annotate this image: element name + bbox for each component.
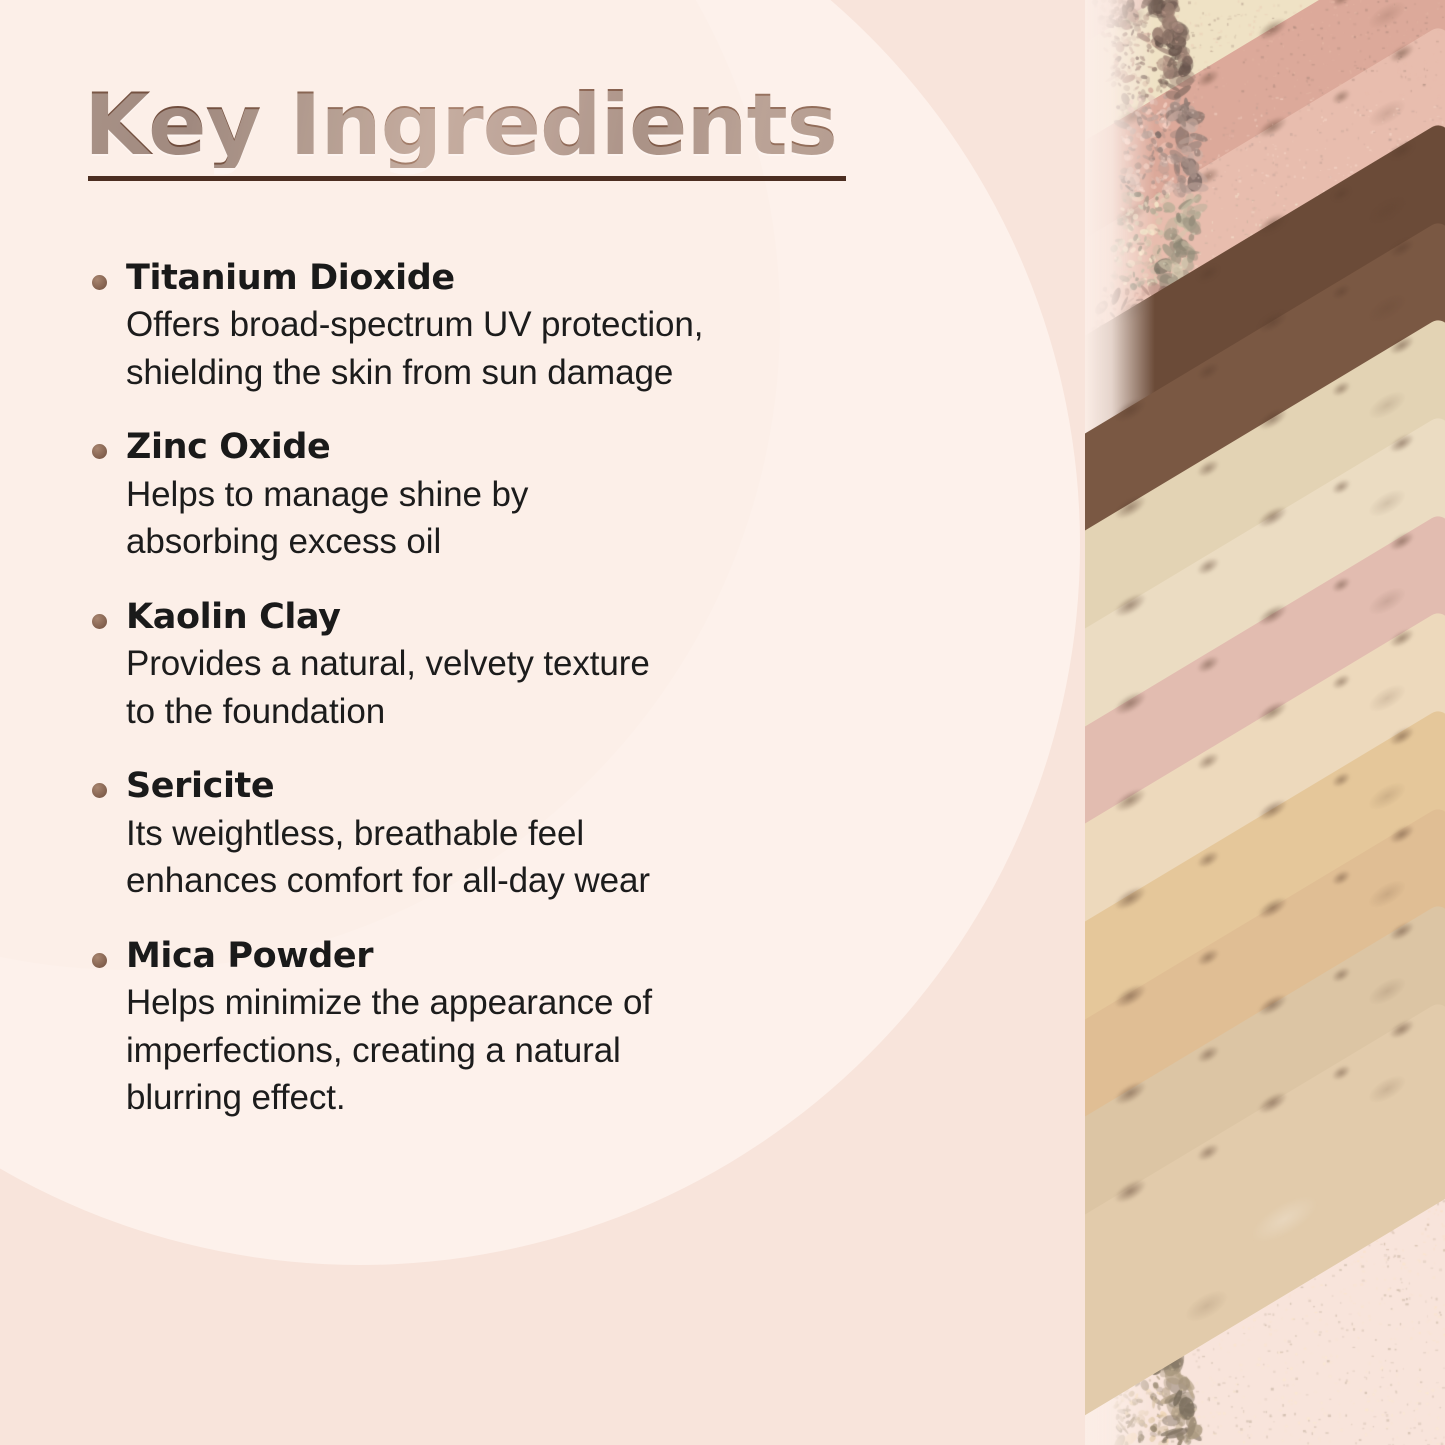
page-title: Key Ingredients: [84, 82, 884, 168]
ingredient-description: Provides a natural, velvety texture to t…: [126, 640, 964, 735]
list-item: Titanium Dioxide Offers broad-spectrum U…: [84, 258, 964, 396]
ingredient-name: Zinc Oxide: [126, 427, 964, 468]
ingredient-description: Helps minimize the appearance of imperfe…: [126, 979, 964, 1122]
ingredient-name: Titanium Dioxide: [126, 258, 964, 299]
ingredient-name: Kaolin Clay: [126, 597, 964, 638]
ingredient-name: Sericite: [126, 766, 964, 807]
powder-swatch-image: [1085, 0, 1445, 1445]
title-underline: [88, 176, 846, 181]
list-item: Zinc Oxide Helps to manage shine by abso…: [84, 427, 964, 565]
list-item: Kaolin Clay Provides a natural, velvety …: [84, 597, 964, 735]
bullet-icon: [92, 614, 107, 629]
bullet-icon: [92, 275, 107, 290]
key-ingredients-infographic: Key Ingredients Titanium Dioxide Offers …: [0, 0, 1445, 1445]
bullet-icon: [92, 444, 107, 459]
bullet-icon: [92, 953, 107, 968]
list-item: Mica Powder Helps minimize the appearanc…: [84, 936, 964, 1122]
ingredient-description: Its weightless, breathable feel enhances…: [126, 810, 964, 905]
bullet-icon: [92, 783, 107, 798]
ingredient-description: Offers broad-spectrum UV protection, shi…: [126, 301, 964, 396]
ingredient-name: Mica Powder: [126, 936, 964, 977]
ingredient-description: Helps to manage shine by absorbing exces…: [126, 471, 964, 566]
ingredient-list: Titanium Dioxide Offers broad-spectrum U…: [84, 258, 964, 1122]
list-item: Sericite Its weightless, breathable feel…: [84, 766, 964, 904]
page-title-block: Key Ingredients: [84, 82, 884, 168]
